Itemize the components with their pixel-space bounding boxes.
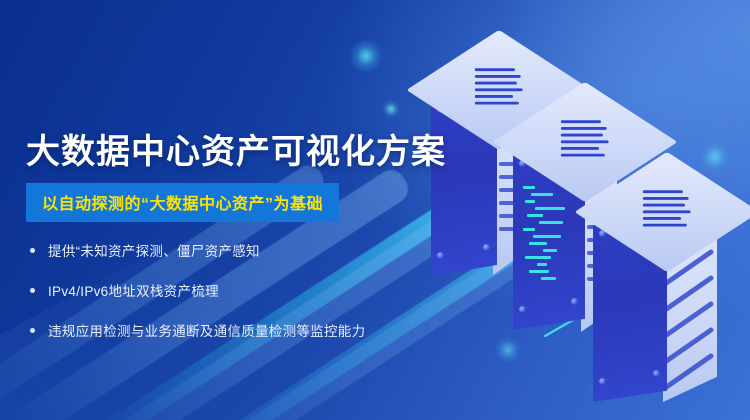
- feature-list: 提供“未知资产探测、僵尸资产感知 IPv4/IPv6地址双栈资产梳理 违规应用检…: [30, 240, 420, 360]
- screw-icon: [519, 306, 526, 313]
- data-code-lines: [523, 186, 579, 284]
- list-item-label: IPv4/IPv6地址双栈资产梳理: [48, 280, 219, 300]
- glow-dot: [382, 100, 400, 118]
- rack-top-slots: [561, 120, 614, 160]
- list-item: 提供“未知资产探测、僵尸资产感知: [30, 240, 420, 260]
- list-item-label: 违规应用检测与业务通断及通信质量检测等监控能力: [48, 320, 365, 340]
- list-item: IPv4/IPv6地址双栈资产梳理: [30, 280, 420, 300]
- screw-icon: [483, 244, 490, 251]
- server-rack-illustration: [425, 48, 750, 420]
- screw-icon: [571, 298, 578, 305]
- page-title: 大数据中心资产可视化方案: [26, 124, 446, 173]
- screw-icon: [437, 252, 444, 259]
- screw-icon: [653, 370, 660, 377]
- bullet-dot-icon: [30, 288, 35, 293]
- glow-dot: [349, 39, 383, 73]
- server-rack-right: [593, 162, 750, 420]
- list-item-label: 提供“未知资产探测、僵尸资产感知: [48, 240, 260, 260]
- bullet-dot-icon: [30, 328, 35, 333]
- list-item: 违规应用检测与业务通断及通信质量检测等监控能力: [30, 320, 420, 340]
- bullet-dot-icon: [30, 248, 35, 253]
- screw-icon: [599, 378, 606, 385]
- marketing-banner: 大数据中心资产可视化方案 以自动探测的“大数据中心资产”为基础 提供“未知资产探…: [0, 0, 750, 420]
- subtitle-banner: 以自动探测的“大数据中心资产”为基础: [26, 183, 339, 222]
- rack-top-slots: [643, 190, 696, 230]
